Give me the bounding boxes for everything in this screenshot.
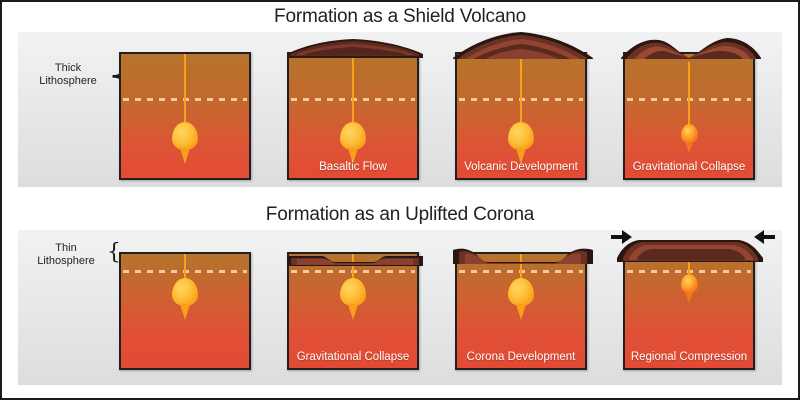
panel-shield-3-body: [457, 54, 585, 178]
magma-plume-tail: [516, 304, 526, 320]
thick-lithosphere-label-line1: Thick: [30, 62, 106, 75]
panel-corona-4-caption: Regional Compression: [629, 351, 749, 363]
thick-lithosphere-label: Thick Lithosphere: [30, 62, 106, 88]
arrow-head: [622, 230, 632, 244]
panel-corona-3: Corona Development: [455, 252, 587, 370]
panel-corona-3-caption: Corona Development: [461, 351, 581, 363]
magma-conduit: [688, 62, 690, 128]
magma-plume-tail: [685, 292, 693, 303]
magma-plume-tail: [180, 148, 190, 164]
magma-plume-tail: [180, 304, 190, 320]
panel-shield-4: Gravitational Collapse: [623, 52, 755, 180]
thin-lithosphere-label-line1: Thin: [26, 242, 106, 255]
magma-plume-tail: [348, 304, 358, 320]
magma-plume-tail: [685, 142, 693, 153]
magma-plume: [508, 122, 534, 150]
section-shield-volcano: Formation as a Shield Volcano Thick Lith…: [2, 2, 798, 200]
compression-arrow-left-icon: [754, 230, 776, 244]
panel-shield-1-body: [121, 54, 249, 178]
diagram-figure: Formation as a Shield Volcano Thick Lith…: [0, 0, 800, 400]
panel-corona-1: [119, 252, 251, 370]
panel-shield-2: Basaltic Flow: [287, 52, 419, 180]
panel-corona-2: Gravitational Collapse: [287, 252, 419, 370]
magma-plume: [508, 278, 534, 306]
magma-conduit: [184, 54, 186, 128]
panel-shield-3-caption: Volcanic Development: [461, 161, 581, 173]
panel-corona-4: Regional Compression: [623, 252, 755, 370]
magma-plume: [340, 122, 366, 150]
compression-arrow-right-icon: [611, 230, 633, 244]
magma-plume: [681, 124, 698, 143]
panel-corona-2-caption: Gravitational Collapse: [293, 351, 413, 363]
panel-shield-1: [119, 52, 251, 180]
magma-plume: [172, 122, 198, 150]
section-title-uplifted-corona: Formation as an Uplifted Corona: [2, 204, 798, 226]
thin-lithosphere-label: Thin Lithosphere: [26, 242, 106, 268]
magma-plume: [340, 278, 366, 306]
panel-shield-4-body: [625, 54, 753, 178]
arrow-shaft: [763, 235, 775, 239]
magma-conduit: [352, 54, 354, 128]
magma-plume: [681, 274, 698, 293]
panel-shield-2-caption: Basaltic Flow: [293, 161, 413, 173]
panel-shield-2-body: [289, 54, 417, 178]
magma-plume: [172, 278, 198, 306]
thin-lithosphere-label-line2: Lithosphere: [26, 255, 106, 268]
panel-corona-1-body: [121, 254, 249, 368]
section-uplifted-corona: Formation as an Uplifted Corona Thin Lit…: [2, 200, 798, 398]
panel-shield-4-caption: Gravitational Collapse: [629, 161, 749, 173]
thick-lithosphere-label-line2: Lithosphere: [30, 75, 106, 88]
panel-shield-3: Volcanic Development: [455, 52, 587, 180]
arrow-head: [754, 230, 764, 244]
magma-conduit: [520, 54, 522, 128]
section-title-shield-volcano: Formation as a Shield Volcano: [2, 6, 798, 28]
